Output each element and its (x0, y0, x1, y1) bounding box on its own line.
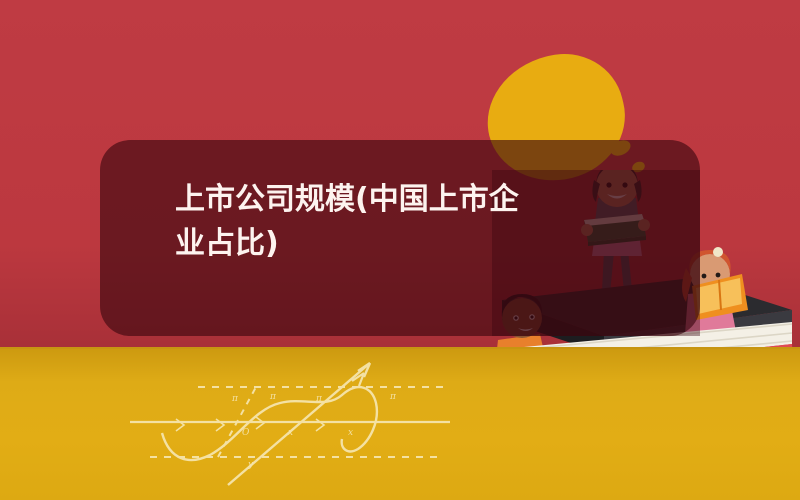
math-graph-decoration: π π π π O x x y (120, 355, 450, 490)
svg-text:π: π (269, 392, 277, 402)
svg-text:x: x (348, 428, 353, 438)
svg-text:π: π (315, 394, 323, 404)
svg-text:O: O (242, 428, 250, 438)
svg-text:x: x (288, 428, 293, 438)
svg-text:π: π (389, 392, 397, 402)
banner-root: 上市公司规模(中国上市企 业占比) (0, 0, 800, 500)
svg-text:π: π (231, 394, 239, 404)
svg-text:y: y (247, 460, 254, 470)
page-title: 上市公司规模(中国上市企 业占比) (175, 178, 635, 266)
